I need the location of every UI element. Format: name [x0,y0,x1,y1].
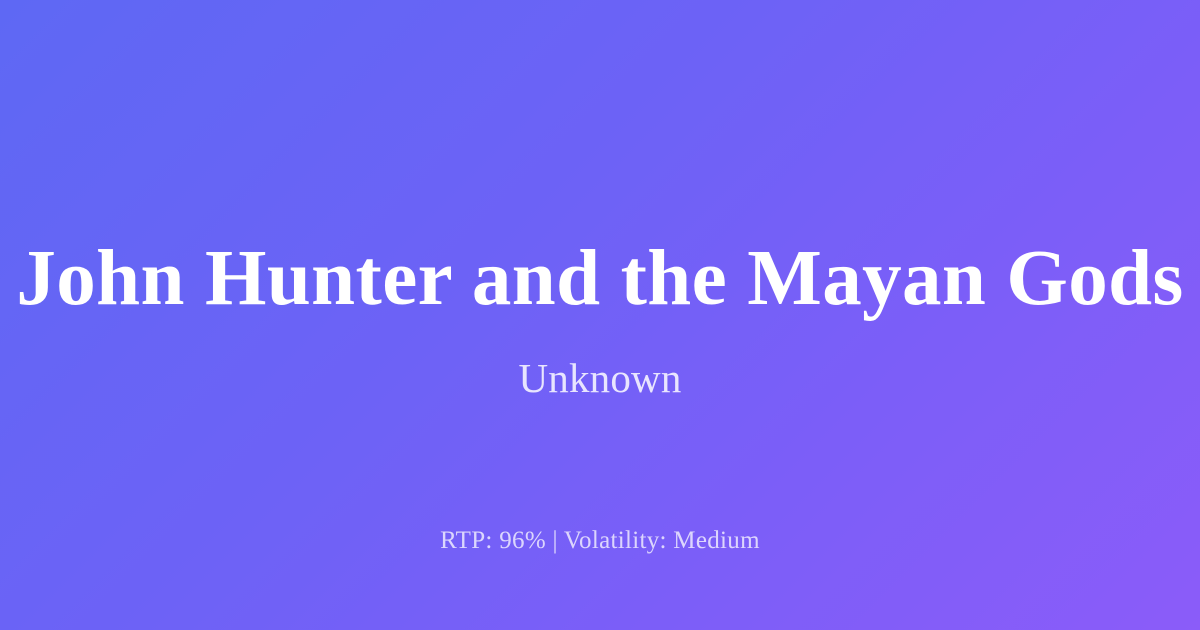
page-title: John Hunter and the Mayan Gods [16,239,1183,318]
game-stats-container: RTP: 96% | Volatility: Medium [0,528,1200,553]
provider-label: Unknown [518,358,681,399]
game-title-container: John Hunter and the Mayan Gods [0,0,1200,318]
game-preview-card: John Hunter and the Mayan Gods Unknown R… [0,0,1200,630]
stats-line: RTP: 96% | Volatility: Medium [440,528,760,553]
game-provider-container: Unknown [0,358,1200,399]
